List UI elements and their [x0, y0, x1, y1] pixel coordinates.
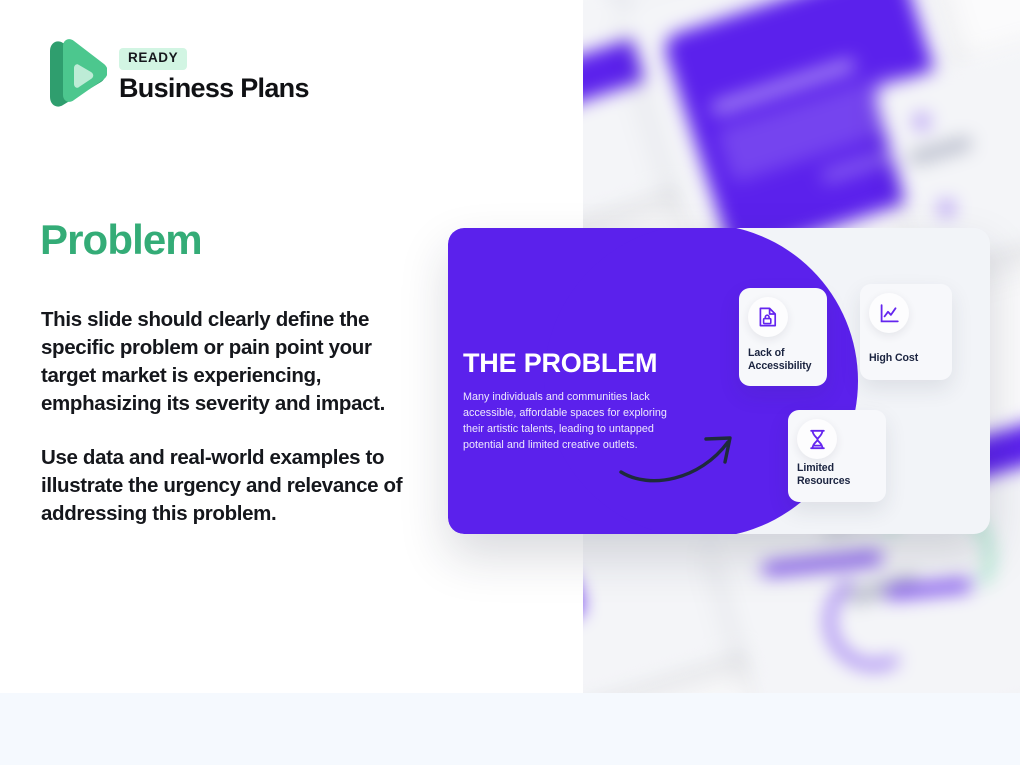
- feature-label: High Cost: [869, 352, 947, 365]
- bottom-band: [0, 693, 1020, 765]
- feature-card-high-cost[interactable]: High Cost: [860, 284, 952, 380]
- bg-bar: [820, 148, 898, 184]
- brand-title: Business Plans: [119, 73, 309, 103]
- curved-arrow-icon: [618, 428, 743, 488]
- document-lock-icon-glyph: [758, 306, 778, 328]
- slide-canvas: READY Business Plans Problem This slide …: [0, 0, 1020, 765]
- brand-text: READY Business Plans: [119, 48, 309, 103]
- line-chart-icon: [869, 293, 909, 333]
- feature-label: Limited Resources: [797, 462, 881, 488]
- body-copy: This slide should clearly define the spe…: [41, 306, 431, 529]
- bg-bar: [908, 135, 973, 166]
- hourglass-icon-glyph: [808, 429, 827, 450]
- brand-lockup: READY Business Plans: [41, 38, 309, 114]
- bg-dot: [937, 198, 957, 218]
- page-title: Problem: [40, 218, 202, 262]
- feature-label: Lack of Accessibility: [748, 347, 822, 373]
- document-lock-icon: [748, 297, 788, 337]
- hourglass-icon: [797, 419, 837, 459]
- body-paragraph-2: Use data and real-world examples to illu…: [41, 444, 431, 528]
- feature-card-lack-of-accessibility[interactable]: Lack of Accessibility: [739, 288, 827, 386]
- feature-card-limited-resources[interactable]: Limited Resources: [788, 410, 886, 502]
- line-chart-icon-glyph: [879, 303, 900, 324]
- slide-title: THE PROBLEM: [463, 349, 688, 377]
- body-paragraph-1: This slide should clearly define the spe…: [41, 306, 431, 418]
- bg-bar: [762, 551, 883, 576]
- play-triangle-logo-icon: [41, 38, 107, 114]
- bg-dot: [912, 112, 932, 132]
- slide-preview-card[interactable]: THE PROBLEM Many individuals and communi…: [448, 228, 990, 534]
- ready-badge: READY: [119, 48, 187, 70]
